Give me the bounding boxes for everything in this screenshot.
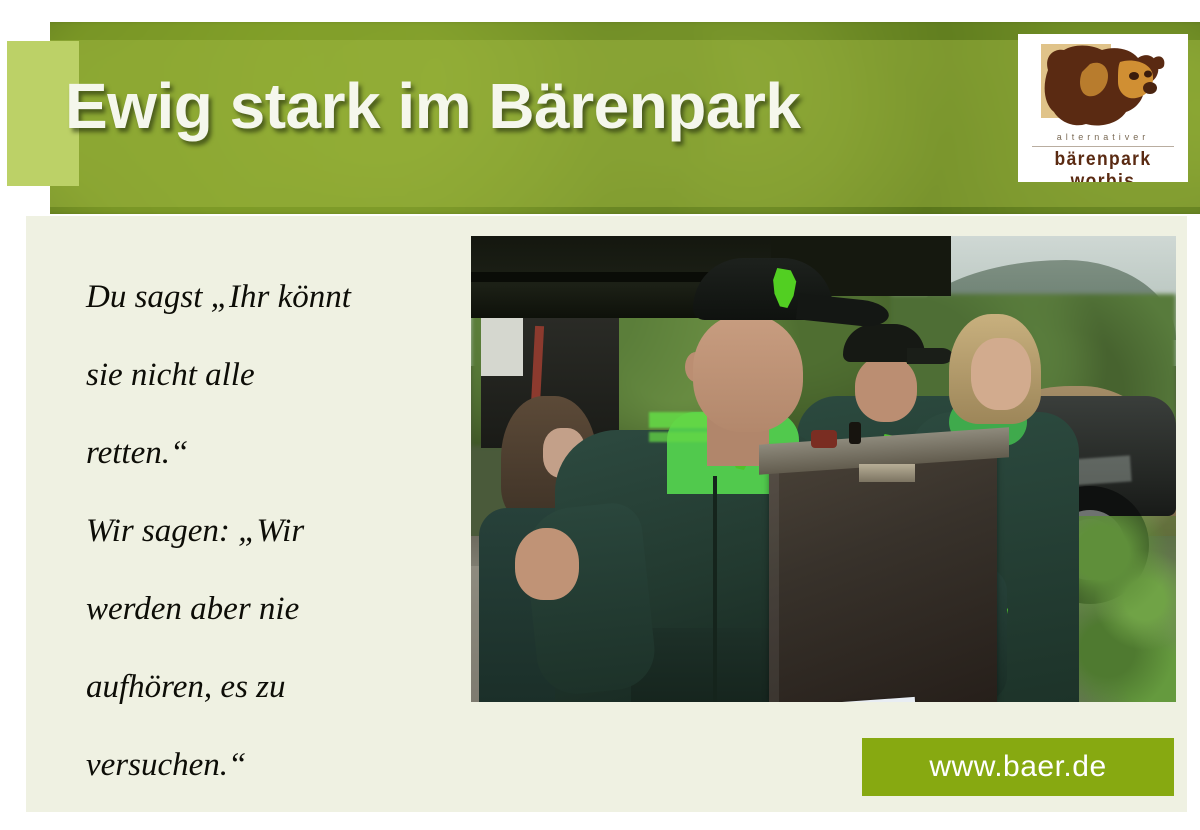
photo-person-front-hand [515, 528, 579, 600]
quote-text: Du sagst „Ihr könnt sie nicht alle rette… [86, 258, 446, 804]
logo-name-line: bärenpark worbis [1025, 149, 1181, 182]
quote-line-5: werden aber nie [86, 570, 446, 648]
quote-line-1: Du sagst „Ihr könnt [86, 258, 446, 336]
photo-vehicle-white-panel [481, 318, 523, 376]
photo-crate-warning-sign: Öffnung bis oben Lebende Tiere! Living a… [765, 697, 923, 702]
photo-person-right-face [971, 338, 1031, 410]
logo[interactable]: alternativer bärenpark worbis [1018, 34, 1188, 182]
quote-line-4: Wir sagen: „Wir [86, 492, 446, 570]
photo-person-mid-face [855, 356, 917, 422]
website-button[interactable]: www.baer.de [862, 738, 1174, 796]
photo-greenery-right [1071, 516, 1176, 702]
quote-line-2: sie nicht alle [86, 336, 446, 414]
slide: Ewig stark im Bärenpark alternativer bär… [0, 0, 1200, 830]
page-title: Ewig stark im Bärenpark [65, 74, 800, 138]
quote-line-6: aufhören, es zu [86, 648, 446, 726]
website-label: www.baer.de [929, 750, 1106, 784]
photo-transport-crate: Öffnung bis oben Lebende Tiere! Living a… [769, 448, 997, 702]
photo-crate-knob [849, 422, 861, 444]
photo-person-mid-cap-brim [907, 348, 953, 364]
bear-icon [1034, 40, 1166, 132]
photo-person-front-face [693, 314, 803, 432]
quote-line-7: versuchen.“ [86, 726, 446, 804]
quote-line-3: retten.“ [86, 414, 446, 492]
logo-alt-line: alternativer [1018, 132, 1188, 142]
photo-crate-latch [859, 464, 915, 482]
photo-crate-edge [769, 448, 779, 702]
photo-person-front-zip [713, 476, 717, 702]
photo-bear-transport: Öffnung bis oben Lebende Tiere! Living a… [471, 236, 1176, 702]
logo-divider [1032, 146, 1174, 147]
photo-crate-handle [811, 430, 837, 448]
